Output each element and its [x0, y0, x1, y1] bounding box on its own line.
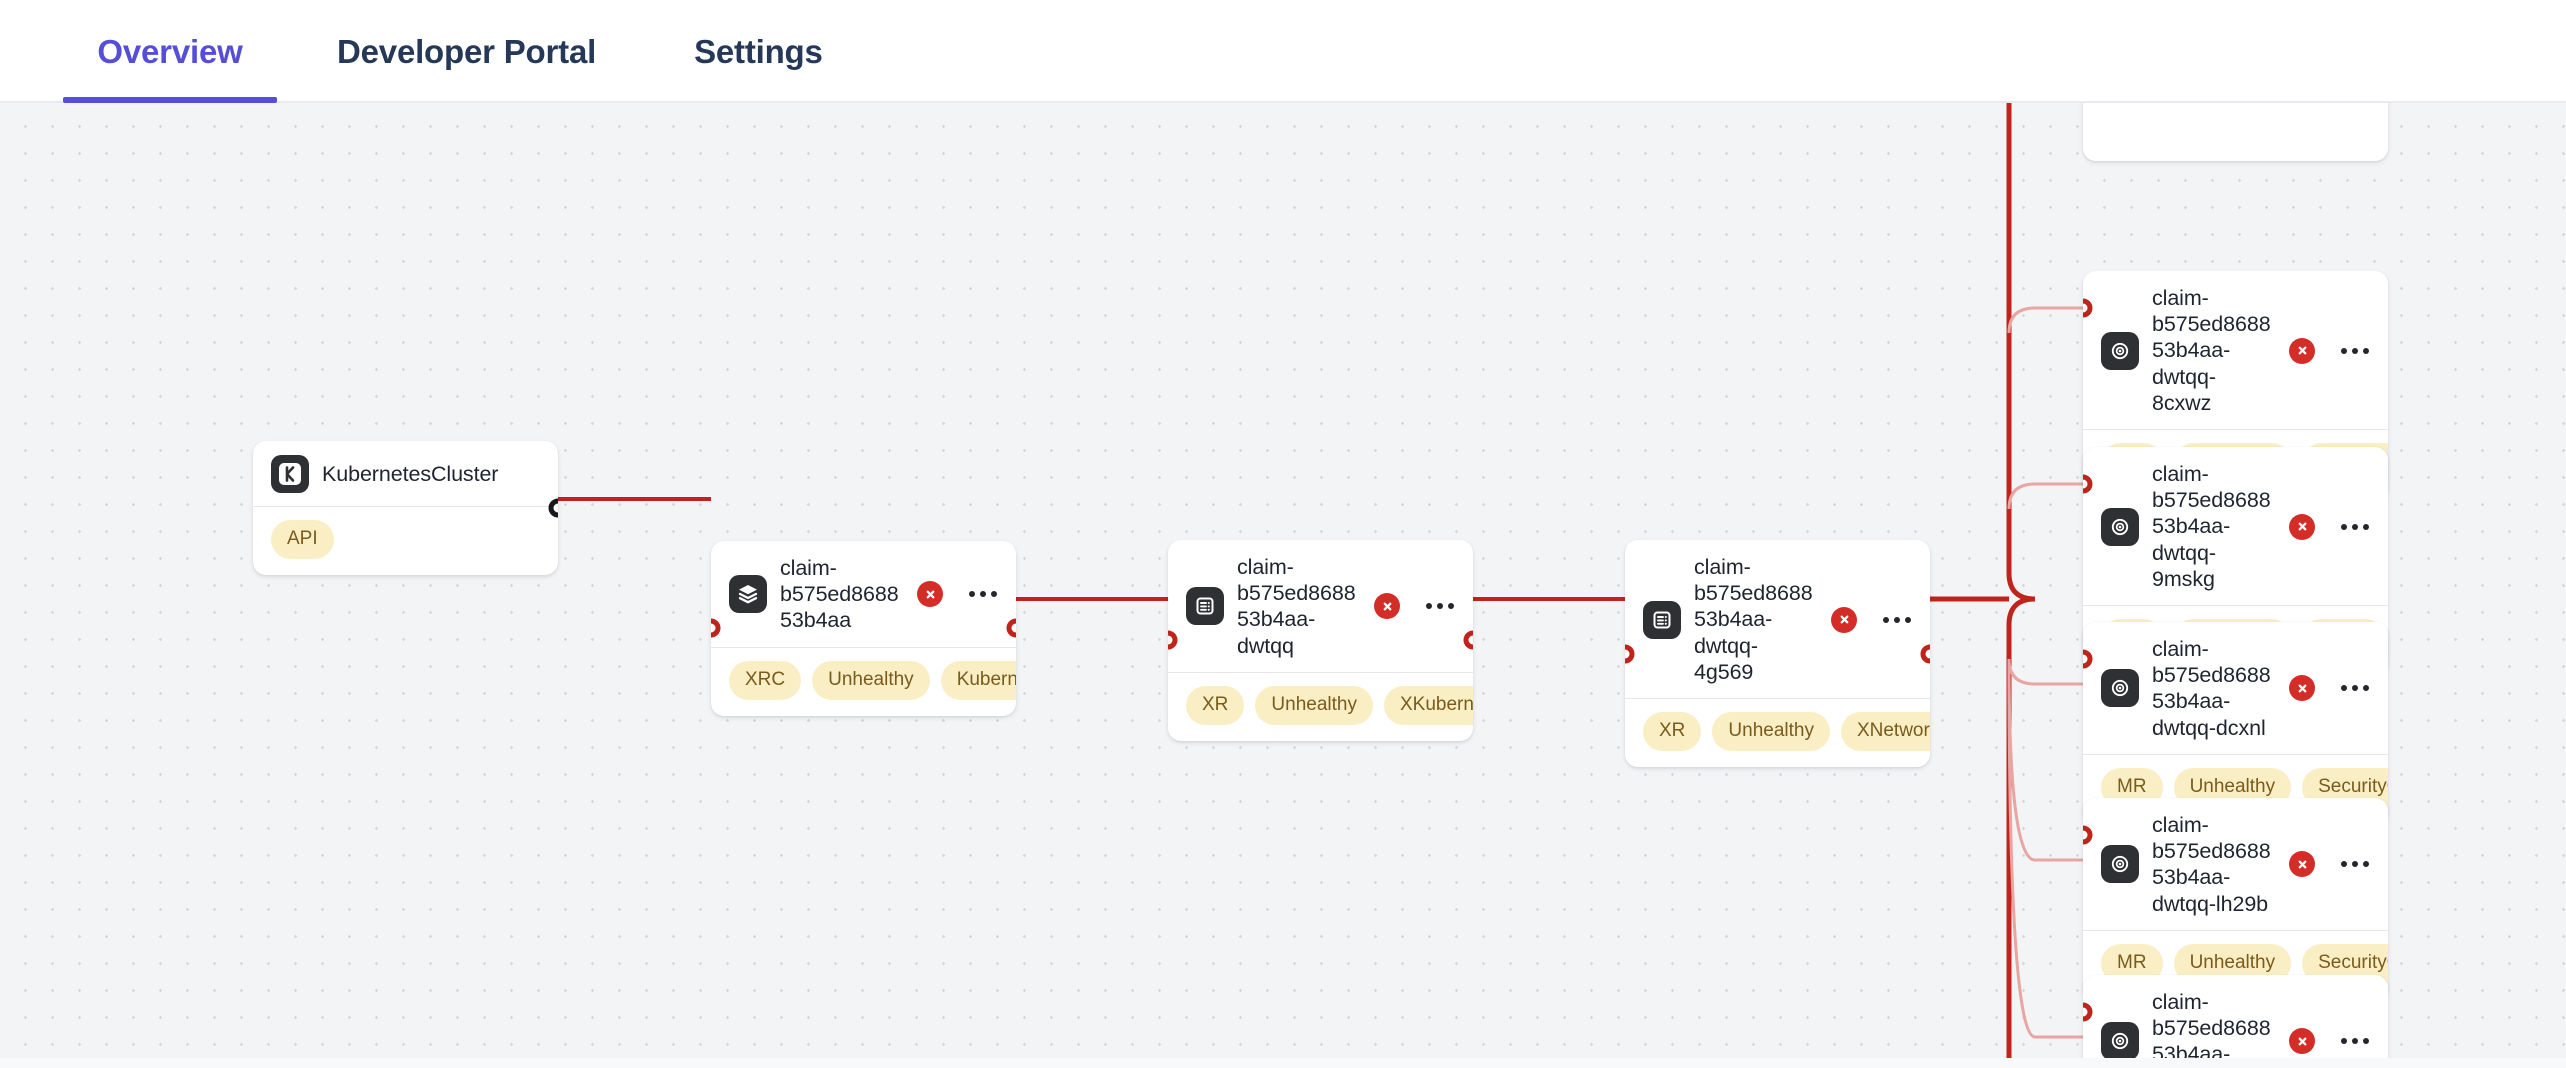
managed-resource-icon	[2101, 669, 2139, 707]
status-badge-error-icon[interactable]	[2289, 338, 2315, 364]
node-header: claim-b575ed868853b4aa-dwtqq-lh29b	[2083, 798, 2388, 930]
node-claim-dwtqq-4g569[interactable]: claim-b575ed868853b4aa-dwtqq-4g569 XR Un…	[1625, 540, 1930, 767]
node-header: claim-b575ed868853b4aa	[711, 541, 1016, 647]
tab-developer-portal-label: Developer Portal	[337, 33, 596, 71]
node-tags: XR Unhealthy XNetwork	[1625, 699, 1930, 767]
tab-overview-label: Overview	[97, 33, 242, 71]
managed-resource-icon	[2101, 1022, 2139, 1058]
node-tags: XRC Unhealthy KubernetesCluster	[711, 648, 1016, 716]
node-menu-kebab-icon[interactable]	[2338, 1028, 2372, 1054]
edge-branch-fzcd6	[2009, 659, 2083, 1037]
status-badge-error-icon[interactable]	[2289, 675, 2315, 701]
node-partial-top[interactable]	[2083, 103, 2388, 161]
edge-branch-lh29b	[2009, 659, 2083, 860]
node-title: KubernetesCluster	[322, 461, 542, 487]
node-header: KubernetesCluster	[253, 441, 558, 506]
tag-kind: API	[271, 520, 334, 559]
node-title: claim-b575ed868853b4aa-dwtqq-dcxnl	[2152, 636, 2272, 741]
status-badge-error-icon[interactable]	[2289, 851, 2315, 877]
node-header: claim-b575ed868853b4aa-dwtqq-9mskg	[2083, 447, 2388, 605]
top-tab-bar: Overview Developer Portal Settings	[0, 0, 2566, 103]
node-title: claim-b575ed868853b4aa-dwtqq-fzcd6	[2152, 989, 2272, 1058]
status-badge-error-icon[interactable]	[917, 581, 943, 607]
node-header	[2083, 103, 2388, 105]
tab-settings-label: Settings	[694, 33, 823, 71]
node-menu-kebab-icon[interactable]	[2338, 675, 2372, 701]
node-title: claim-b575ed868853b4aa-dwtqq-8cxwz	[2152, 285, 2272, 416]
node-tags: XR Unhealthy XKubernetesCluster	[1168, 673, 1473, 741]
tag-resource-type: KubernetesCluster	[941, 661, 1016, 700]
node-claim-dwtqq-fzcd6[interactable]: claim-b575ed868853b4aa-dwtqq-fzcd6 MR Un…	[2083, 975, 2388, 1058]
kubernetes-logo-icon	[271, 455, 309, 493]
node-menu-kebab-icon[interactable]	[1880, 607, 1914, 633]
managed-resource-icon	[2101, 845, 2139, 883]
node-header: claim-b575ed868853b4aa-dwtqq-dcxnl	[2083, 622, 2388, 754]
node-claim-xrc[interactable]: claim-b575ed868853b4aa XRC Unhealthy Kub…	[711, 541, 1016, 716]
tag-kind: XRC	[729, 661, 801, 700]
edge-branch-8cxwz	[2009, 308, 2083, 333]
status-badge-error-icon[interactable]	[1831, 607, 1857, 633]
canvas-bottom-strip	[0, 1058, 2566, 1068]
tag-health: Unhealthy	[1712, 712, 1830, 751]
node-menu-kebab-icon[interactable]	[2338, 851, 2372, 877]
edge-branch-9mskg	[2009, 484, 2083, 509]
node-claim-dwtqq-dcxnl[interactable]: claim-b575ed868853b4aa-dwtqq-dcxnl MR Un…	[2083, 622, 2388, 823]
graph-canvas[interactable]: KubernetesCluster API claim-b575ed868853…	[0, 103, 2566, 1058]
node-menu-kebab-icon[interactable]	[2338, 514, 2372, 540]
composite-icon	[1186, 587, 1224, 625]
node-title: claim-b575ed868853b4aa-dwtqq-lh29b	[2152, 812, 2272, 917]
node-menu-kebab-icon[interactable]	[1423, 593, 1457, 619]
tab-settings[interactable]: Settings	[694, 0, 823, 103]
node-header: claim-b575ed868853b4aa-dwtqq-4g569	[1625, 540, 1930, 698]
node-title: claim-b575ed868853b4aa-dwtqq-4g569	[1694, 554, 1814, 685]
tag-kind: XR	[1643, 712, 1701, 751]
node-title: claim-b575ed868853b4aa-dwtqq	[1237, 554, 1357, 659]
node-title: claim-b575ed868853b4aa-dwtqq-9mskg	[2152, 461, 2272, 592]
tag-health: Unhealthy	[812, 661, 930, 700]
node-header: claim-b575ed868853b4aa-dwtqq	[1168, 540, 1473, 672]
node-menu-kebab-icon[interactable]	[966, 581, 1000, 607]
node-header: claim-b575ed868853b4aa-dwtqq-fzcd6	[2083, 975, 2388, 1058]
node-tags: API	[253, 507, 558, 575]
composite-icon	[1643, 601, 1681, 639]
status-badge-error-icon[interactable]	[1374, 593, 1400, 619]
tag-resource-type: XNetwork	[1841, 712, 1930, 751]
tab-overview[interactable]: Overview	[63, 0, 277, 103]
tag-resource-type: XKubernetesCluster	[1384, 686, 1473, 725]
edge-vertical-trunk	[2003, 103, 2035, 1058]
status-badge-error-icon[interactable]	[2289, 514, 2315, 540]
node-kubernetescluster[interactable]: KubernetesCluster API	[253, 441, 558, 575]
tag-kind: XR	[1186, 686, 1244, 725]
node-menu-kebab-icon[interactable]	[2338, 338, 2372, 364]
layers-icon	[729, 575, 767, 613]
tab-developer-portal[interactable]: Developer Portal	[337, 0, 596, 103]
node-claim-dwtqq-lh29b[interactable]: claim-b575ed868853b4aa-dwtqq-lh29b MR Un…	[2083, 798, 2388, 999]
node-header: claim-b575ed868853b4aa-dwtqq-8cxwz	[2083, 271, 2388, 429]
node-claim-dwtqq[interactable]: claim-b575ed868853b4aa-dwtqq XR Unhealth…	[1168, 540, 1473, 741]
managed-resource-icon	[2101, 508, 2139, 546]
tag-health: Unhealthy	[1255, 686, 1373, 725]
node-title: claim-b575ed868853b4aa	[780, 555, 900, 634]
status-badge-error-icon[interactable]	[2289, 1028, 2315, 1054]
edge-branch-dcxnl	[2009, 659, 2083, 684]
managed-resource-icon	[2101, 332, 2139, 370]
